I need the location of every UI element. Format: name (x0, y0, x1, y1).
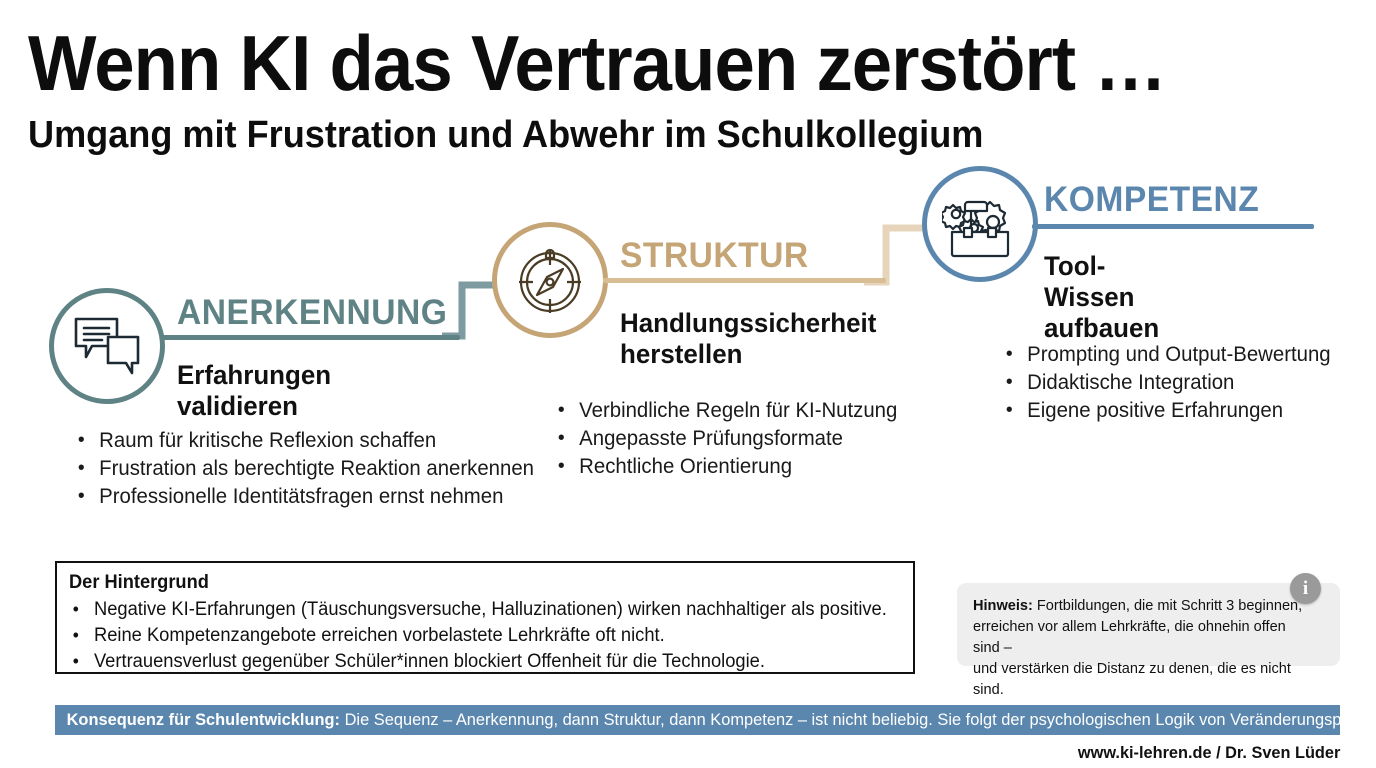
step-struktur-bullets: Verbindliche Regeln für KI-Nutzung Angep… (552, 397, 908, 481)
step-anerkennung-rule (160, 335, 460, 340)
step-struktur-rule (603, 278, 886, 283)
list-item: Prompting und Output-Bewertung (1000, 341, 1331, 369)
page-subtitle: Umgang mit Frustration und Abwehr im Sch… (28, 113, 983, 157)
infographic-canvas: Wenn KI das Vertrauen zerstört … Umgang … (0, 0, 1376, 768)
background-box-title: Der Hintergrund (69, 572, 209, 594)
list-item: Professionelle Identitätsfragen ernst ne… (72, 483, 534, 511)
step-anerkennung-heading: Erfahrungen validieren (177, 360, 331, 422)
list-item: Negative KI-Erfahrungen (Täuschungsversu… (65, 597, 887, 623)
step-struktur-circle (492, 222, 608, 338)
list-item: Didaktische Integration (1000, 369, 1331, 397)
list-item: Reine Kompetenzangebote erreichen vorbel… (65, 623, 887, 649)
list-item: Angepasste Prüfungsformate (552, 425, 897, 453)
step-struktur-kicker: STRUKTUR (620, 238, 809, 273)
list-item: Raum für kritische Reflexion schaffen (72, 427, 534, 455)
step-kompetenz-heading-line1: Tool-Wissen (1044, 251, 1159, 313)
consequence-label: Konsequenz für Schulentwicklung: (67, 710, 340, 729)
list-item: Vertrauensverlust gegenüber Schüler*inne… (65, 649, 887, 675)
consequence-bar: Konsequenz für Schulentwicklung: Die Seq… (55, 705, 1340, 735)
credit-line: www.ki-lehren.de / Dr. Sven Lüder (1078, 743, 1340, 763)
step-kompetenz-circle (922, 166, 1038, 282)
step-kompetenz-kicker: KOMPETENZ (1044, 182, 1259, 217)
hinweis-box: Hinweis: Fortbildungen, die mit Schritt … (957, 583, 1340, 666)
step-kompetenz-heading: Tool-Wissen aufbauen (1044, 251, 1159, 344)
step-anerkennung-bullets: Raum für kritische Reflexion schaffen Fr… (72, 427, 548, 511)
hinweis-line1: Hinweis: Fortbildungen, die mit Schritt … (973, 595, 1315, 616)
list-item: Frustration als berechtigte Reaktion ane… (72, 455, 534, 483)
background-box: Der Hintergrund Negative KI-Erfahrungen … (55, 561, 915, 674)
background-box-list: Negative KI-Erfahrungen (Täuschungsversu… (65, 597, 917, 675)
consequence-text: Konsequenz für Schulentwicklung: Die Seq… (55, 711, 1376, 729)
hinweis-line3: und verstärken die Distanz zu denen, die… (973, 658, 1315, 700)
list-item: Verbindliche Regeln für KI-Nutzung (552, 397, 897, 425)
consequence-body: Die Sequenz – Anerkennung, dann Struktur… (340, 710, 1376, 729)
step-kompetenz-bullets: Prompting und Output-Bewertung Didaktisc… (1000, 341, 1341, 425)
info-icon: i (1290, 573, 1321, 604)
list-item: Rechtliche Orientierung (552, 453, 897, 481)
step-struktur-heading-line2: herstellen (620, 339, 876, 370)
hinweis-label: Hinweis: (973, 597, 1033, 614)
compass-icon (513, 243, 587, 317)
hinweis-line2: erreichen vor allem Lehrkräfte, die ohne… (973, 616, 1315, 658)
step-struktur-heading-line1: Handlungssicherheit (620, 308, 876, 339)
hinweis-line1-text: Fortbildungen, die mit Schritt 3 beginne… (1033, 597, 1302, 614)
step-anerkennung-kicker: ANERKENNUNG (177, 295, 447, 330)
step-kompetenz-rule (1032, 224, 1314, 229)
toolbox-gears-icon (942, 188, 1018, 260)
step-struktur-heading: Handlungssicherheit herstellen (620, 308, 876, 370)
page-title: Wenn KI das Vertrauen zerstört … (28, 24, 1166, 102)
list-item: Eigene positive Erfahrungen (1000, 397, 1331, 425)
step-kompetenz-heading-line2: aufbauen (1044, 313, 1159, 344)
speech-bubbles-icon (70, 313, 144, 379)
step-anerkennung-circle (49, 288, 165, 404)
